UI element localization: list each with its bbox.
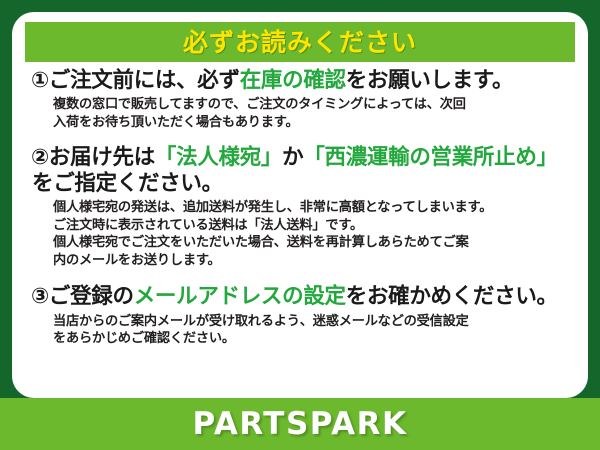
item-1-subtext: 複数の窓口で販売してますので、ご注文のタイミングによっては、次回 入荷をお待ち頂… bbox=[22, 96, 578, 131]
item-2-part-0: お届け先は bbox=[49, 145, 155, 170]
item-2-part-1-highlight: 「法人様宛」 bbox=[155, 145, 282, 170]
item-2-subline-3: 個人様宅宛でご注文をいただいた場合、送料を再計算しあらためてご案 bbox=[53, 234, 578, 252]
notice-item-3: ③ご登録のメールアドレスの設定をお確かめください。 当店からのご案内メールが受け… bbox=[22, 284, 578, 347]
item-3-subline-2: をあらかじめご確認ください。 bbox=[53, 330, 578, 348]
notice-content: ①ご注文前には、必ず在庫の確認をお願いします。 複数の窓口で販売してますので、ご… bbox=[12, 68, 588, 350]
item-1-part-0: ご注文前には、必ず bbox=[49, 68, 240, 93]
notice-item-1: ①ご注文前には、必ず在庫の確認をお願いします。 複数の窓口で販売してますので、ご… bbox=[22, 68, 578, 131]
item-2-part-2: か bbox=[282, 145, 303, 170]
item-3-heading: ③ご登録のメールアドレスの設定をお確かめください。 bbox=[22, 284, 578, 309]
item-1-marker: ① bbox=[31, 68, 49, 93]
item-2-marker: ② bbox=[31, 145, 49, 170]
item-2-part-4: をご指定ください。 bbox=[32, 171, 223, 196]
footer-band: PARTSPARK bbox=[0, 398, 600, 450]
item-3-subline-1: 当店からのご案内メールが受け取れるよう、迷惑メールなどの受信設定 bbox=[53, 313, 578, 331]
item-3-part-1-highlight: メールアドレスの設定 bbox=[134, 284, 346, 309]
item-3-marker: ③ bbox=[31, 284, 49, 309]
item-2-subtext: 個人様宅宛の発送は、追加送料が発生し、非常に高額となってしまいます。 ご注文時に… bbox=[22, 199, 578, 269]
item-2-part-3-highlight: 「西濃運輸の営業所止め」 bbox=[303, 145, 557, 170]
title-banner: 必ずお読みください bbox=[25, 22, 575, 62]
item-2-subline-4: 内のメールをお送りします。 bbox=[53, 252, 578, 270]
item-1-part-1-highlight: 在庫の確認 bbox=[240, 68, 346, 93]
notice-poster: 必ずお読みください ①ご注文前には、必ず在庫の確認をお願いします。 複数の窓口で… bbox=[0, 0, 600, 450]
item-1-heading: ①ご注文前には、必ず在庫の確認をお願いします。 bbox=[22, 68, 578, 93]
notice-item-2: ②お届け先は「法人様宛」か「西濃運輸の営業所止め」をご指定ください。 個人様宅宛… bbox=[22, 145, 578, 269]
item-3-part-0: ご登録の bbox=[49, 284, 134, 309]
notice-card: 必ずお読みください ①ご注文前には、必ず在庫の確認をお願いします。 複数の窓口で… bbox=[12, 12, 588, 398]
item-1-subline-1: 複数の窓口で販売してますので、ご注文のタイミングによっては、次回 bbox=[53, 96, 578, 114]
item-3-part-2: をお確かめください。 bbox=[346, 284, 558, 309]
item-2-subline-1: 個人様宅宛の発送は、追加送料が発生し、非常に高額となってしまいます。 bbox=[53, 199, 578, 217]
banner-title: 必ずお読みください bbox=[183, 30, 417, 55]
item-1-part-2: をお願いします。 bbox=[346, 68, 513, 93]
item-1-subline-2: 入荷をお待ち頂いただく場合もあります。 bbox=[53, 114, 578, 132]
item-2-subline-2: ご注文時に表示されている送料は「法人送料」です。 bbox=[53, 217, 578, 235]
item-3-subtext: 当店からのご案内メールが受け取れるよう、迷惑メールなどの受信設定 をあらかじめご… bbox=[22, 313, 578, 348]
item-2-heading: ②お届け先は「法人様宛」か「西濃運輸の営業所止め」をご指定ください。 bbox=[22, 145, 578, 196]
brand-logo: PARTSPARK bbox=[192, 409, 407, 440]
